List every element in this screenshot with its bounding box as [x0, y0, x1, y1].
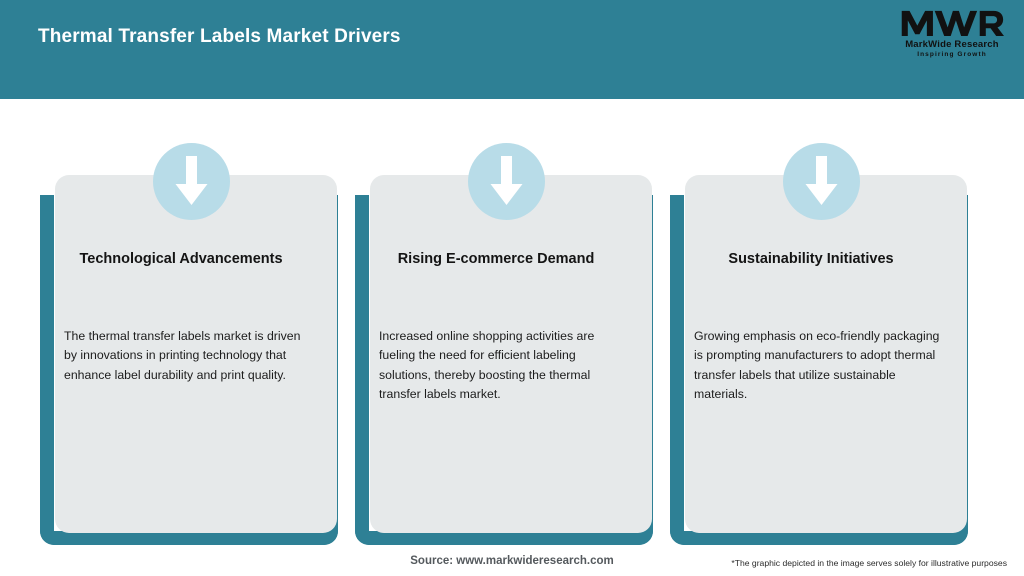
- mwr-logo-icon: [900, 8, 1004, 38]
- logo-company-name: MarkWide Research: [898, 39, 1006, 50]
- card-title: Technological Advancements: [50, 250, 312, 269]
- driver-card-3: Sustainability Initiatives Growing empha…: [670, 99, 984, 549]
- down-arrow-icon: [783, 143, 860, 220]
- card-description: Growing emphasis on eco-friendly packagi…: [694, 327, 946, 405]
- disclaimer-note: *The graphic depicted in the image serve…: [731, 558, 1007, 568]
- brand-logo: MarkWide Research Inspiring Growth: [898, 8, 1006, 66]
- page-header: Thermal Transfer Labels Market Drivers M…: [0, 0, 1024, 99]
- logo-tagline: Inspiring Growth: [898, 50, 1006, 59]
- driver-cards-container: Technological Advancements The thermal t…: [0, 99, 1024, 549]
- down-arrow-icon: [153, 143, 230, 220]
- card-title: Rising E-commerce Demand: [365, 250, 627, 269]
- page-title: Thermal Transfer Labels Market Drivers: [38, 26, 401, 48]
- down-arrow-icon: [468, 143, 545, 220]
- driver-card-2: Rising E-commerce Demand Increased onlin…: [355, 99, 669, 549]
- driver-card-1: Technological Advancements The thermal t…: [40, 99, 354, 549]
- card-title: Sustainability Initiatives: [680, 250, 942, 269]
- card-description: The thermal transfer labels market is dr…: [64, 327, 316, 385]
- card-description: Increased online shopping activities are…: [379, 327, 631, 405]
